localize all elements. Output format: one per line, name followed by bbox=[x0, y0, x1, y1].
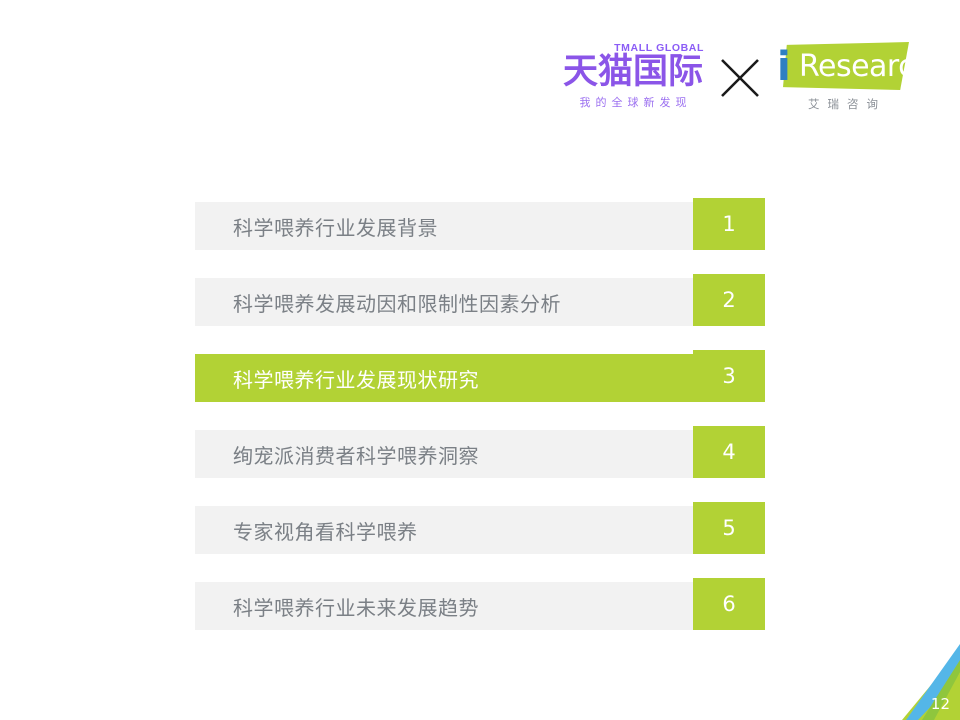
toc-item-6-label: 科学喂养行业未来发展趋势 bbox=[233, 582, 479, 630]
header-logo-lockup: TMALL GLOBAL 天猫国际 我的全球新发现 i Research 艾瑞咨… bbox=[558, 38, 912, 124]
page-number: 12 bbox=[931, 696, 950, 712]
toc-item-1-label: 科学喂养行业发展背景 bbox=[233, 202, 438, 250]
toc-item-5-label: 专家视角看科学喂养 bbox=[233, 506, 418, 554]
tmall-chinese-name: 天猫国际 bbox=[563, 52, 703, 92]
toc-item-3-number: 3 bbox=[693, 350, 765, 402]
tmall-slogan: 我的全球新发现 bbox=[580, 96, 692, 110]
corner-decoration: 12 bbox=[882, 642, 960, 720]
toc-item-4-label: 绚宠派消费者科学喂养洞察 bbox=[233, 430, 479, 478]
table-of-contents: 科学喂养行业发展背景 1 科学喂养发展动因和限制性因素分析 2 科学喂养行业发展… bbox=[195, 202, 765, 630]
toc-item-5-number: 5 bbox=[693, 502, 765, 554]
toc-item-5[interactable]: 专家视角看科学喂养 5 bbox=[195, 506, 765, 554]
iresearch-chinese-name: 艾瑞咨询 bbox=[808, 97, 886, 112]
toc-item-3-label: 科学喂养行业发展现状研究 bbox=[233, 354, 479, 402]
toc-item-4[interactable]: 绚宠派消费者科学喂养洞察 4 bbox=[195, 430, 765, 478]
iresearch-i-letter: i bbox=[777, 46, 791, 88]
toc-item-1-number: 1 bbox=[693, 198, 765, 250]
toc-item-3[interactable]: 科学喂养行业发展现状研究 3 bbox=[195, 354, 765, 402]
toc-item-2-number: 2 bbox=[693, 274, 765, 326]
toc-item-1[interactable]: 科学喂养行业发展背景 1 bbox=[195, 202, 765, 250]
cross-separator-icon bbox=[714, 52, 766, 104]
iresearch-word: Research bbox=[799, 47, 933, 87]
iresearch-logo: i Research 艾瑞咨询 bbox=[772, 38, 912, 112]
toc-item-2[interactable]: 科学喂养发展动因和限制性因素分析 2 bbox=[195, 278, 765, 326]
toc-item-2-label: 科学喂养发展动因和限制性因素分析 bbox=[233, 278, 561, 326]
toc-item-4-number: 4 bbox=[693, 426, 765, 478]
toc-item-6-number: 6 bbox=[693, 578, 765, 630]
tmall-global-logo: TMALL GLOBAL 天猫国际 我的全球新发现 bbox=[558, 38, 708, 110]
tmall-english-name: TMALL GLOBAL bbox=[614, 42, 704, 53]
toc-item-6[interactable]: 科学喂养行业未来发展趋势 6 bbox=[195, 582, 765, 630]
iresearch-wordmark: i Research bbox=[775, 40, 909, 92]
